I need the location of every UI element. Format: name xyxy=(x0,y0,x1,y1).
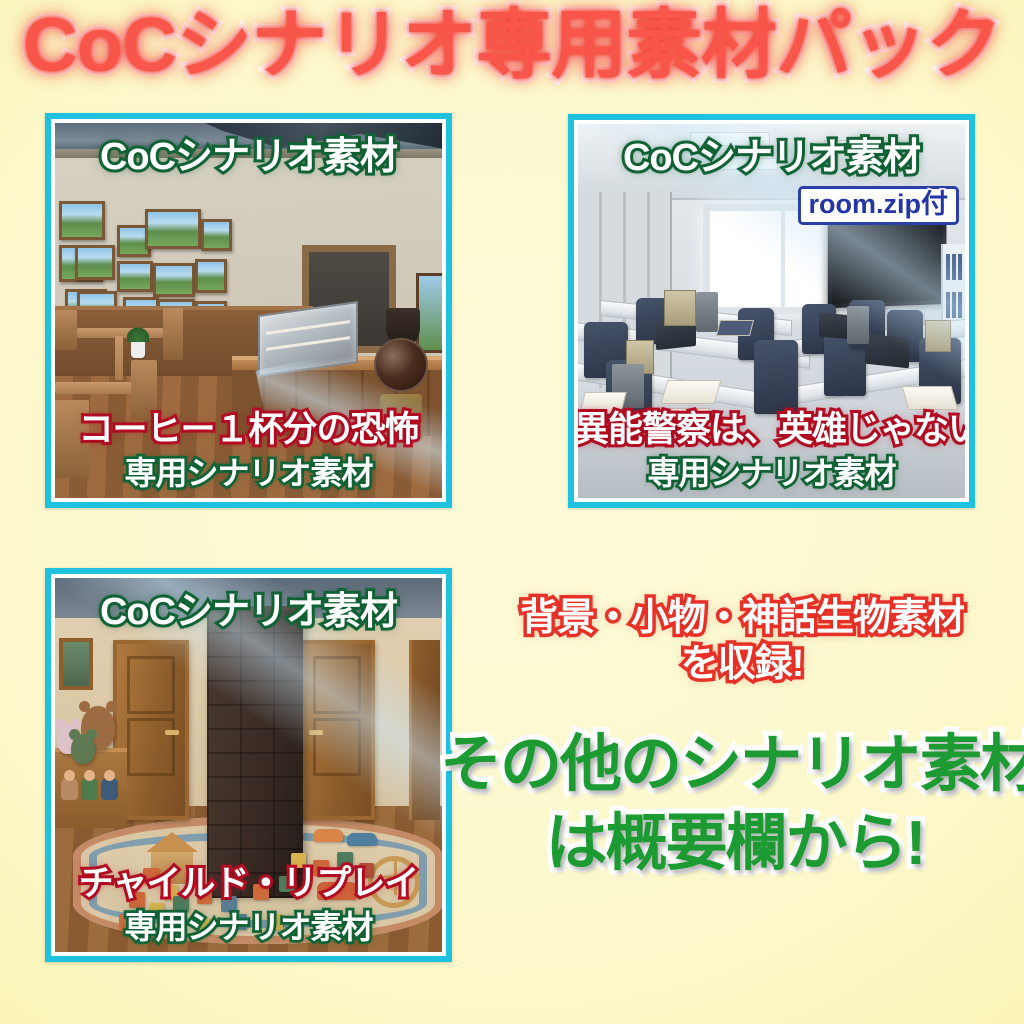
promo-green-line-2: は概要欄から! xyxy=(440,804,1024,883)
laptop xyxy=(865,334,909,369)
wall-monitor xyxy=(828,218,947,308)
file-box xyxy=(847,306,869,344)
product-card-coffee[interactable]: CoCシナリオ素材 コーヒー１杯分の恐怖 専用シナリオ素材 xyxy=(45,113,452,508)
wall-photo-frame xyxy=(117,261,153,292)
cafe-chair xyxy=(163,308,183,360)
product-card-office[interactable]: CoCシナリオ素材 room.zip付 異能警察は、英雄じゃない 専用シナリオ素… xyxy=(568,114,975,508)
wall-photo-frame xyxy=(59,201,105,240)
wall-photo-frame xyxy=(195,259,227,293)
product-card-child[interactable]: CoCシナリオ素材 チャイルド・リプレイ 専用シナリオ素材 xyxy=(45,568,452,962)
table-plant xyxy=(131,340,145,358)
card-subtitle-child: 専用シナリオ素材 xyxy=(55,902,442,948)
card-title-coffee: コーヒー１杯分の恐怖 xyxy=(55,401,442,452)
poster-canvas: CoCシナリオ専用素材パック xyxy=(0,0,1024,1024)
card-image-coffee: CoCシナリオ素材 コーヒー１杯分の恐怖 専用シナリオ素材 xyxy=(55,123,442,498)
card-image-child: CoCシナリオ素材 チャイルド・リプレイ 専用シナリオ素材 xyxy=(55,578,442,952)
promo-green-line-1: その他のシナリオ素材 xyxy=(440,725,1024,804)
toy-car xyxy=(313,829,343,842)
door-handle xyxy=(165,730,179,735)
wall-photo-frame xyxy=(145,209,201,249)
door-far-right xyxy=(409,640,440,820)
document-folder xyxy=(925,320,951,352)
card-image-office: CoCシナリオ素材 room.zip付 異能警察は、英雄じゃない 専用シナリオ素… xyxy=(578,124,965,498)
document-folder xyxy=(664,290,696,326)
toy-car xyxy=(347,833,377,846)
doll xyxy=(61,778,78,800)
cafe-chair xyxy=(55,310,77,350)
promo-red-line-2: を収録! xyxy=(460,641,1024,687)
card-header-coffee: CoCシナリオ素材 xyxy=(55,125,442,180)
card-header-child: CoCシナリオ素材 xyxy=(55,580,442,635)
doll xyxy=(101,778,118,800)
file-box xyxy=(696,292,718,332)
wall-picture xyxy=(59,638,93,690)
door-right xyxy=(299,640,375,820)
card-subtitle-coffee: 専用シナリオ素材 xyxy=(55,448,442,494)
doll xyxy=(81,778,98,800)
cafe-table xyxy=(55,382,133,394)
promo-red-line-1: 背景・小物・神話生物素材 xyxy=(460,595,1024,641)
cafe-table-leg xyxy=(115,336,123,380)
zip-attachment-badge: room.zip付 xyxy=(798,186,960,225)
wall-photo-frame xyxy=(75,245,115,280)
wall-photo-frame xyxy=(153,263,195,297)
card-subtitle-office: 専用シナリオ素材 xyxy=(578,448,965,494)
teddy-bear-green xyxy=(71,734,95,764)
siphon-coffee-bulb xyxy=(374,338,428,392)
promo-green-text: その他のシナリオ素材 は概要欄から! xyxy=(440,725,1024,884)
card-header-office: CoCシナリオ素材 xyxy=(578,126,965,181)
wall-photo-frame xyxy=(201,219,232,251)
promo-red-text: 背景・小物・神話生物素材 を収録! xyxy=(460,595,1024,688)
tablet-device xyxy=(716,320,754,336)
card-title-office: 異能警察は、英雄じゃない xyxy=(578,401,965,452)
page-title: CoCシナリオ専用素材パック xyxy=(0,8,1024,84)
card-title-child: チャイルド・リプレイ xyxy=(55,855,442,906)
door-handle xyxy=(309,730,323,735)
